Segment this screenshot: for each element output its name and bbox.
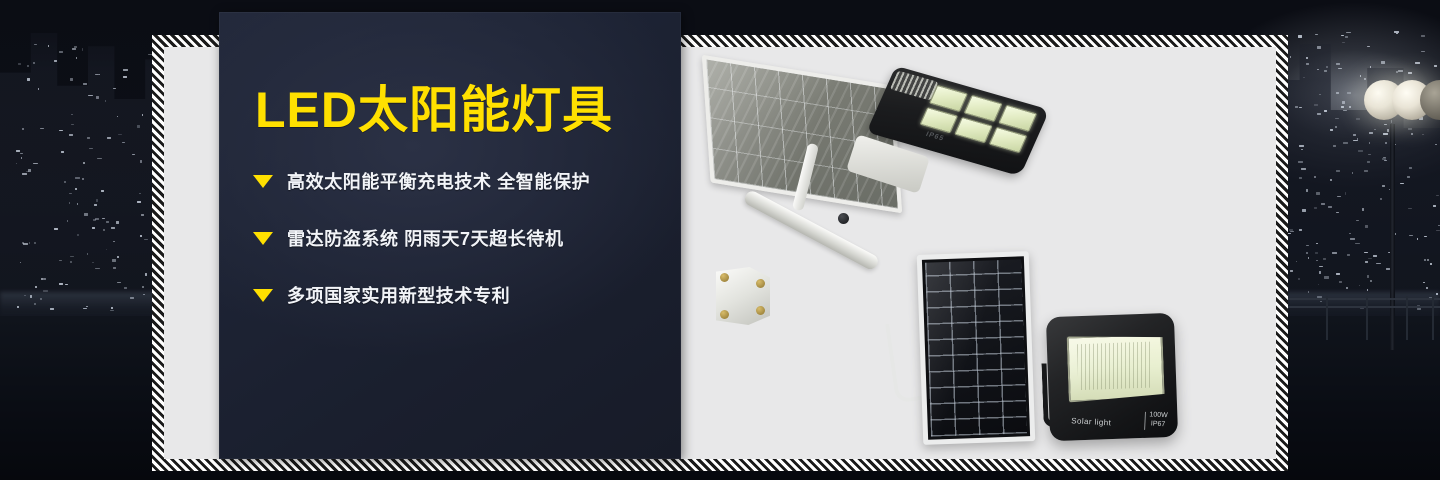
list-item: 多项国家实用新型技术专利 (253, 281, 653, 309)
flood-light-wattage: 100W (1149, 411, 1168, 419)
solar-panel-image (917, 251, 1036, 445)
frame-inner-surface: IP65 (164, 47, 1276, 459)
product-photo-area: IP65 (684, 47, 1276, 459)
railing-post (1326, 296, 1328, 340)
railing-bar (1280, 298, 1440, 300)
hatched-frame-border: IP65 (152, 35, 1288, 471)
waterfront-railing (1280, 296, 1440, 342)
flood-light-ip-rating: IP67 (1151, 420, 1166, 428)
led-lens (989, 126, 1028, 153)
led-lens (920, 107, 959, 134)
panel-face (917, 251, 1036, 445)
mount-bolt (720, 310, 729, 319)
triangle-down-icon (253, 289, 273, 302)
railing-post (1406, 296, 1408, 340)
mount-bolt (720, 273, 729, 282)
railing-post (1366, 296, 1368, 340)
list-item: 雷达防盗系统 阴雨天7天超长待机 (253, 224, 653, 252)
railing-post (1432, 296, 1434, 340)
flood-light-lens (1067, 333, 1165, 402)
street-light-brand-mark: IP65 (925, 131, 946, 143)
page-title: LED太阳能灯具 (255, 70, 613, 142)
feature-list: 高效太阳能平衡充电技术 全智能保护 雷达防盗系统 阴雨天7天超长待机 多项国家实… (253, 167, 653, 338)
flood-light-label-main: Solar light (1071, 415, 1111, 426)
wall-mount-bracket (716, 267, 770, 325)
led-lens (998, 105, 1037, 132)
flood-light-label: Solar light 100W IP67 (1071, 407, 1168, 430)
solar-flood-light-image: Solar light 100W IP67 (1046, 313, 1178, 441)
led-lens (929, 85, 968, 112)
flood-light-label-spec: 100W IP67 (1149, 411, 1168, 429)
led-lens (954, 116, 993, 143)
triangle-down-icon (253, 232, 273, 245)
led-lens-grid (920, 85, 1038, 153)
radar-sensor-icon (838, 213, 849, 224)
promo-banner: IP65 (0, 0, 1440, 480)
flood-light-body: Solar light 100W IP67 (1046, 313, 1178, 441)
feature-label: 雷达防盗系统 阴雨天7天超长待机 (287, 225, 564, 251)
feature-label: 高效太阳能平衡充电技术 全智能保护 (287, 168, 590, 194)
mount-bolt (756, 306, 765, 315)
mount-bolt (756, 279, 765, 288)
railing-bar (1280, 306, 1440, 308)
headline-panel: LED太阳能灯具 高效太阳能平衡充电技术 全智能保护 雷达防盗系统 阴雨天7天超… (219, 12, 681, 459)
triangle-down-icon (253, 175, 273, 188)
list-item: 高效太阳能平衡充电技术 全智能保护 (253, 167, 653, 195)
led-lens (964, 95, 1003, 122)
feature-label: 多项国家实用新型技术专利 (287, 282, 510, 308)
